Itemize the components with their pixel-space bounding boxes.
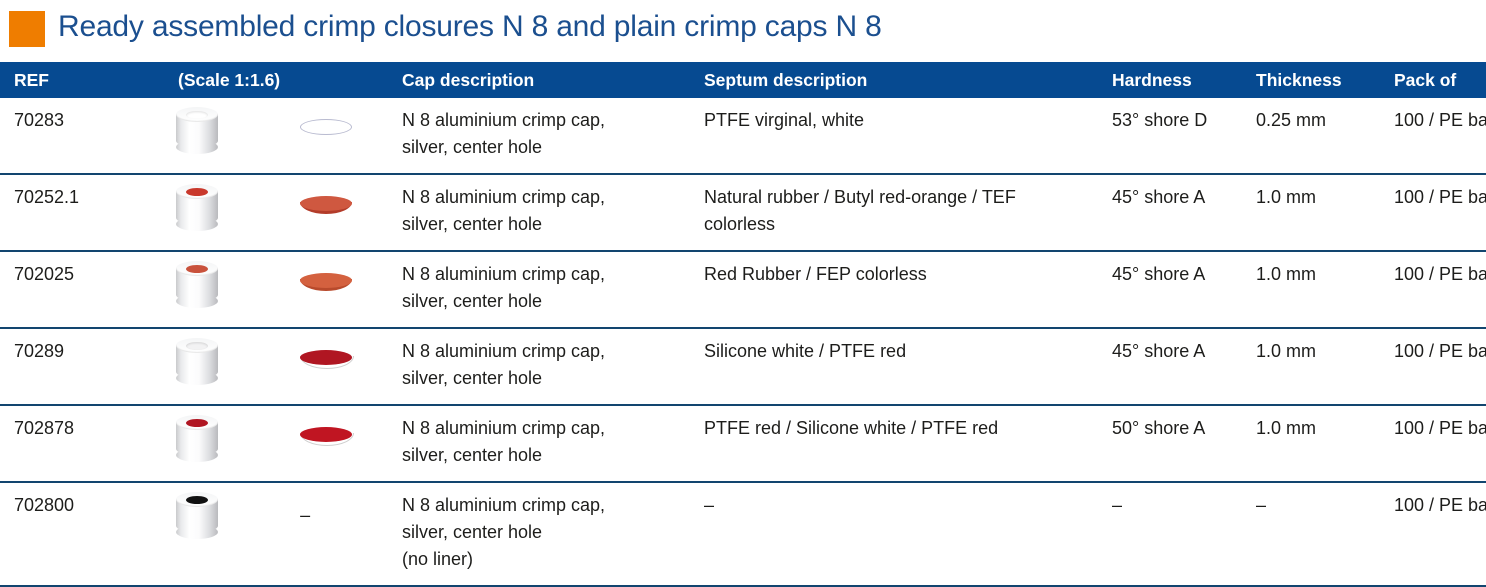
product-table-page: Ready assembled crimp closures N 8 and p…: [0, 0, 1486, 532]
cell-thickness: 1.0 mm: [1252, 405, 1390, 482]
septum-description-text: PTFE red / Silicone white / PTFE red: [704, 406, 1108, 454]
cell-product-images: [166, 98, 396, 174]
page-header: Ready assembled crimp closures N 8 and p…: [0, 0, 1486, 56]
cap-description-line: silver, center hole: [402, 442, 700, 469]
thickness-value: 1.0 mm: [1256, 406, 1390, 454]
hardness-value: 45° shore A: [1112, 329, 1252, 377]
pack-of-value: 100 / PE bag: [1394, 175, 1486, 223]
septum-image-slot: [256, 335, 396, 387]
hardness-value: –: [1112, 483, 1252, 531]
cell-hardness: 53° shore D: [1108, 98, 1252, 174]
cap-image-slot: [166, 338, 256, 384]
septum-dash-placeholder: –: [300, 502, 310, 529]
cell-pack-of: 100 / PE bag: [1390, 98, 1486, 174]
cell-ref: 702878: [0, 405, 166, 482]
cap-top-shape: [176, 184, 218, 199]
cell-cap-description: N 8 aluminium crimp cap,silver, center h…: [396, 328, 700, 405]
column-header-ref: REF: [0, 62, 166, 98]
table-row: 702800–N 8 aluminium crimp cap,silver, c…: [0, 482, 1486, 586]
cell-septum-description: Silicone white / PTFE red: [700, 328, 1108, 405]
cell-product-images: –: [166, 482, 396, 586]
septum-disc-salmon-icon: [300, 273, 352, 295]
cap-description-line: silver, center hole: [402, 519, 700, 546]
cell-hardness: 45° shore A: [1108, 251, 1252, 328]
septum-image-slot: [256, 181, 396, 233]
cell-ref: 702800: [0, 482, 166, 586]
cap-description-text: N 8 aluminium crimp cap,silver, center h…: [402, 175, 700, 250]
cell-cap-description: N 8 aluminium crimp cap,silver, center h…: [396, 482, 700, 586]
cap-description-line: silver, center hole: [402, 134, 700, 161]
cap-center-hole: [186, 188, 208, 196]
cap-image-slot: [166, 415, 256, 461]
column-header-septum: Septum description: [700, 62, 1108, 98]
cap-center-hole: [186, 265, 208, 273]
cap-description-line: N 8 aluminium crimp cap,: [402, 261, 700, 288]
cell-product-images: [166, 251, 396, 328]
column-header-scale: (Scale 1:1.6): [166, 62, 396, 98]
ref-value: 70252.1: [14, 175, 166, 223]
septum-disc-red-top-white-body-icon: [300, 350, 352, 372]
cell-septum-description: PTFE red / Silicone white / PTFE red: [700, 405, 1108, 482]
cell-septum-description: Red Rubber / FEP colorless: [700, 251, 1108, 328]
product-image-group: [166, 175, 396, 233]
septum-disc-red-white-edge-icon: [300, 427, 352, 449]
cell-septum-description: Natural rubber / Butyl red-orange / TEFc…: [700, 174, 1108, 251]
table-header: REF (Scale 1:1.6) Cap description Septum…: [0, 62, 1486, 98]
septum-description-text: –: [704, 483, 1108, 531]
crimp-cap-silver-white-hole-icon: [176, 107, 218, 153]
column-header-pack: Pack of: [1390, 62, 1486, 98]
cap-description-line: silver, center hole: [402, 365, 700, 392]
product-image-group: [166, 252, 396, 310]
cap-description-text: N 8 aluminium crimp cap,silver, center h…: [402, 329, 700, 404]
cell-thickness: 1.0 mm: [1252, 251, 1390, 328]
cell-hardness: 45° shore A: [1108, 328, 1252, 405]
pack-of-value: 100 / PE bag: [1394, 406, 1486, 454]
hardness-value: 45° shore A: [1112, 175, 1252, 223]
cell-pack-of: 100 / PE bag: [1390, 405, 1486, 482]
cell-cap-description: N 8 aluminium crimp cap,silver, center h…: [396, 98, 700, 174]
pack-of-value: 100 / PE bag: [1394, 483, 1486, 531]
cap-description-text: N 8 aluminium crimp cap,silver, center h…: [402, 406, 700, 481]
ref-value: 70283: [14, 98, 166, 146]
cell-cap-description: N 8 aluminium crimp cap,silver, center h…: [396, 251, 700, 328]
cap-description-line: N 8 aluminium crimp cap,: [402, 492, 700, 519]
thickness-value: 1.0 mm: [1256, 329, 1390, 377]
hardness-value: 50° shore A: [1112, 406, 1252, 454]
septum-image-slot: –: [256, 489, 396, 541]
septum-description-text: Red Rubber / FEP colorless: [704, 252, 1108, 300]
septum-clear-ring: [300, 119, 352, 135]
septum-top-shape: [300, 273, 352, 288]
column-header-cap: Cap description: [396, 62, 700, 98]
cell-cap-description: N 8 aluminium crimp cap,silver, center h…: [396, 405, 700, 482]
cap-description-line: N 8 aluminium crimp cap,: [402, 338, 700, 365]
cap-top-shape: [176, 107, 218, 122]
product-image-group: –: [166, 483, 396, 541]
table-row: 70289N 8 aluminium crimp cap,silver, cen…: [0, 328, 1486, 405]
cell-ref: 70283: [0, 98, 166, 174]
table-row: 702025N 8 aluminium crimp cap,silver, ce…: [0, 251, 1486, 328]
cap-description-line: silver, center hole: [402, 211, 700, 238]
table-row: 70252.1N 8 aluminium crimp cap,silver, c…: [0, 174, 1486, 251]
septum-top-shape: [300, 196, 352, 211]
product-image-group: [166, 98, 396, 156]
cap-image-slot: [166, 492, 256, 538]
cell-product-images: [166, 328, 396, 405]
ref-value: 702800: [14, 483, 166, 531]
septum-description-text: Silicone white / PTFE red: [704, 329, 1108, 377]
cell-product-images: [166, 405, 396, 482]
septum-top-shape: [300, 350, 352, 365]
cap-top-shape: [176, 415, 218, 430]
crimp-cap-silver-open-hole-icon: [176, 492, 218, 538]
cell-ref: 70252.1: [0, 174, 166, 251]
products-table: REF (Scale 1:1.6) Cap description Septum…: [0, 62, 1486, 587]
cap-description-text: N 8 aluminium crimp cap,silver, center h…: [402, 98, 700, 173]
cap-image-slot: [166, 107, 256, 153]
cap-top-shape: [176, 338, 218, 353]
crimp-cap-silver-white-hole-icon: [176, 338, 218, 384]
table-body: 70283N 8 aluminium crimp cap,silver, cen…: [0, 98, 1486, 586]
cell-septum-description: PTFE virginal, white: [700, 98, 1108, 174]
cap-top-shape: [176, 261, 218, 276]
cap-description-line: N 8 aluminium crimp cap,: [402, 415, 700, 442]
cell-thickness: –: [1252, 482, 1390, 586]
cell-cap-description: N 8 aluminium crimp cap,silver, center h…: [396, 174, 700, 251]
cap-image-slot: [166, 184, 256, 230]
cap-description-line: (no liner): [402, 546, 700, 573]
cap-center-hole: [186, 496, 208, 504]
crimp-cap-silver-red-hole-icon: [176, 261, 218, 307]
septum-image-slot: [256, 258, 396, 310]
cell-hardness: –: [1108, 482, 1252, 586]
septum-description-line: Natural rubber / Butyl red-orange / TEF: [704, 184, 1108, 211]
septum-description-line: colorless: [704, 211, 1108, 238]
septum-description-text: Natural rubber / Butyl red-orange / TEFc…: [704, 175, 1108, 250]
crimp-cap-silver-red-hole-icon: [176, 415, 218, 461]
septum-disc-clear-outline-icon: [300, 119, 352, 141]
cell-pack-of: 100 / PE bag: [1390, 482, 1486, 586]
septum-image-slot: [256, 104, 396, 156]
septum-disc-red-orange-icon: [300, 196, 352, 218]
hardness-value: 45° shore A: [1112, 252, 1252, 300]
product-image-group: [166, 406, 396, 464]
pack-of-value: 100 / PE bag: [1394, 252, 1486, 300]
cell-thickness: 0.25 mm: [1252, 98, 1390, 174]
cap-description-text: N 8 aluminium crimp cap,silver, center h…: [402, 252, 700, 327]
thickness-value: 1.0 mm: [1256, 175, 1390, 223]
cap-image-slot: [166, 261, 256, 307]
table-header-row: REF (Scale 1:1.6) Cap description Septum…: [0, 62, 1486, 98]
cell-septum-description: –: [700, 482, 1108, 586]
ref-value: 702878: [14, 406, 166, 454]
cap-center-hole: [186, 111, 208, 119]
column-header-thickness: Thickness: [1252, 62, 1390, 98]
crimp-cap-silver-red-hole-icon: [176, 184, 218, 230]
pack-of-value: 100 / PE bag: [1394, 98, 1486, 146]
cap-center-hole: [186, 342, 208, 350]
cell-hardness: 50° shore A: [1108, 405, 1252, 482]
ref-value: 702025: [14, 252, 166, 300]
cap-description-line: N 8 aluminium crimp cap,: [402, 184, 700, 211]
cell-thickness: 1.0 mm: [1252, 174, 1390, 251]
septum-description-text: PTFE virginal, white: [704, 98, 1108, 146]
cell-thickness: 1.0 mm: [1252, 328, 1390, 405]
cell-product-images: [166, 174, 396, 251]
page-title: Ready assembled crimp closures N 8 and p…: [58, 12, 882, 45]
cell-pack-of: 100 / PE bag: [1390, 251, 1486, 328]
cap-top-shape: [176, 492, 218, 507]
orange-square-marker: [9, 11, 45, 47]
thickness-value: 0.25 mm: [1256, 98, 1390, 146]
hardness-value: 53° shore D: [1112, 98, 1252, 146]
column-header-hardness: Hardness: [1108, 62, 1252, 98]
cap-center-hole: [186, 419, 208, 427]
ref-value: 70289: [14, 329, 166, 377]
cell-ref: 70289: [0, 328, 166, 405]
septum-image-slot: [256, 412, 396, 464]
cap-description-line: N 8 aluminium crimp cap,: [402, 107, 700, 134]
thickness-value: 1.0 mm: [1256, 252, 1390, 300]
cap-description-line: silver, center hole: [402, 288, 700, 315]
cell-hardness: 45° shore A: [1108, 174, 1252, 251]
cell-pack-of: 100 / PE bag: [1390, 328, 1486, 405]
thickness-value: –: [1256, 483, 1390, 531]
table-row: 702878N 8 aluminium crimp cap,silver, ce…: [0, 405, 1486, 482]
cell-pack-of: 100 / PE bag: [1390, 174, 1486, 251]
product-image-group: [166, 329, 396, 387]
septum-top-shape: [300, 427, 352, 442]
pack-of-value: 100 / PE bag: [1394, 329, 1486, 377]
cap-description-text: N 8 aluminium crimp cap,silver, center h…: [402, 483, 700, 585]
table-row: 70283N 8 aluminium crimp cap,silver, cen…: [0, 98, 1486, 174]
cell-ref: 702025: [0, 251, 166, 328]
